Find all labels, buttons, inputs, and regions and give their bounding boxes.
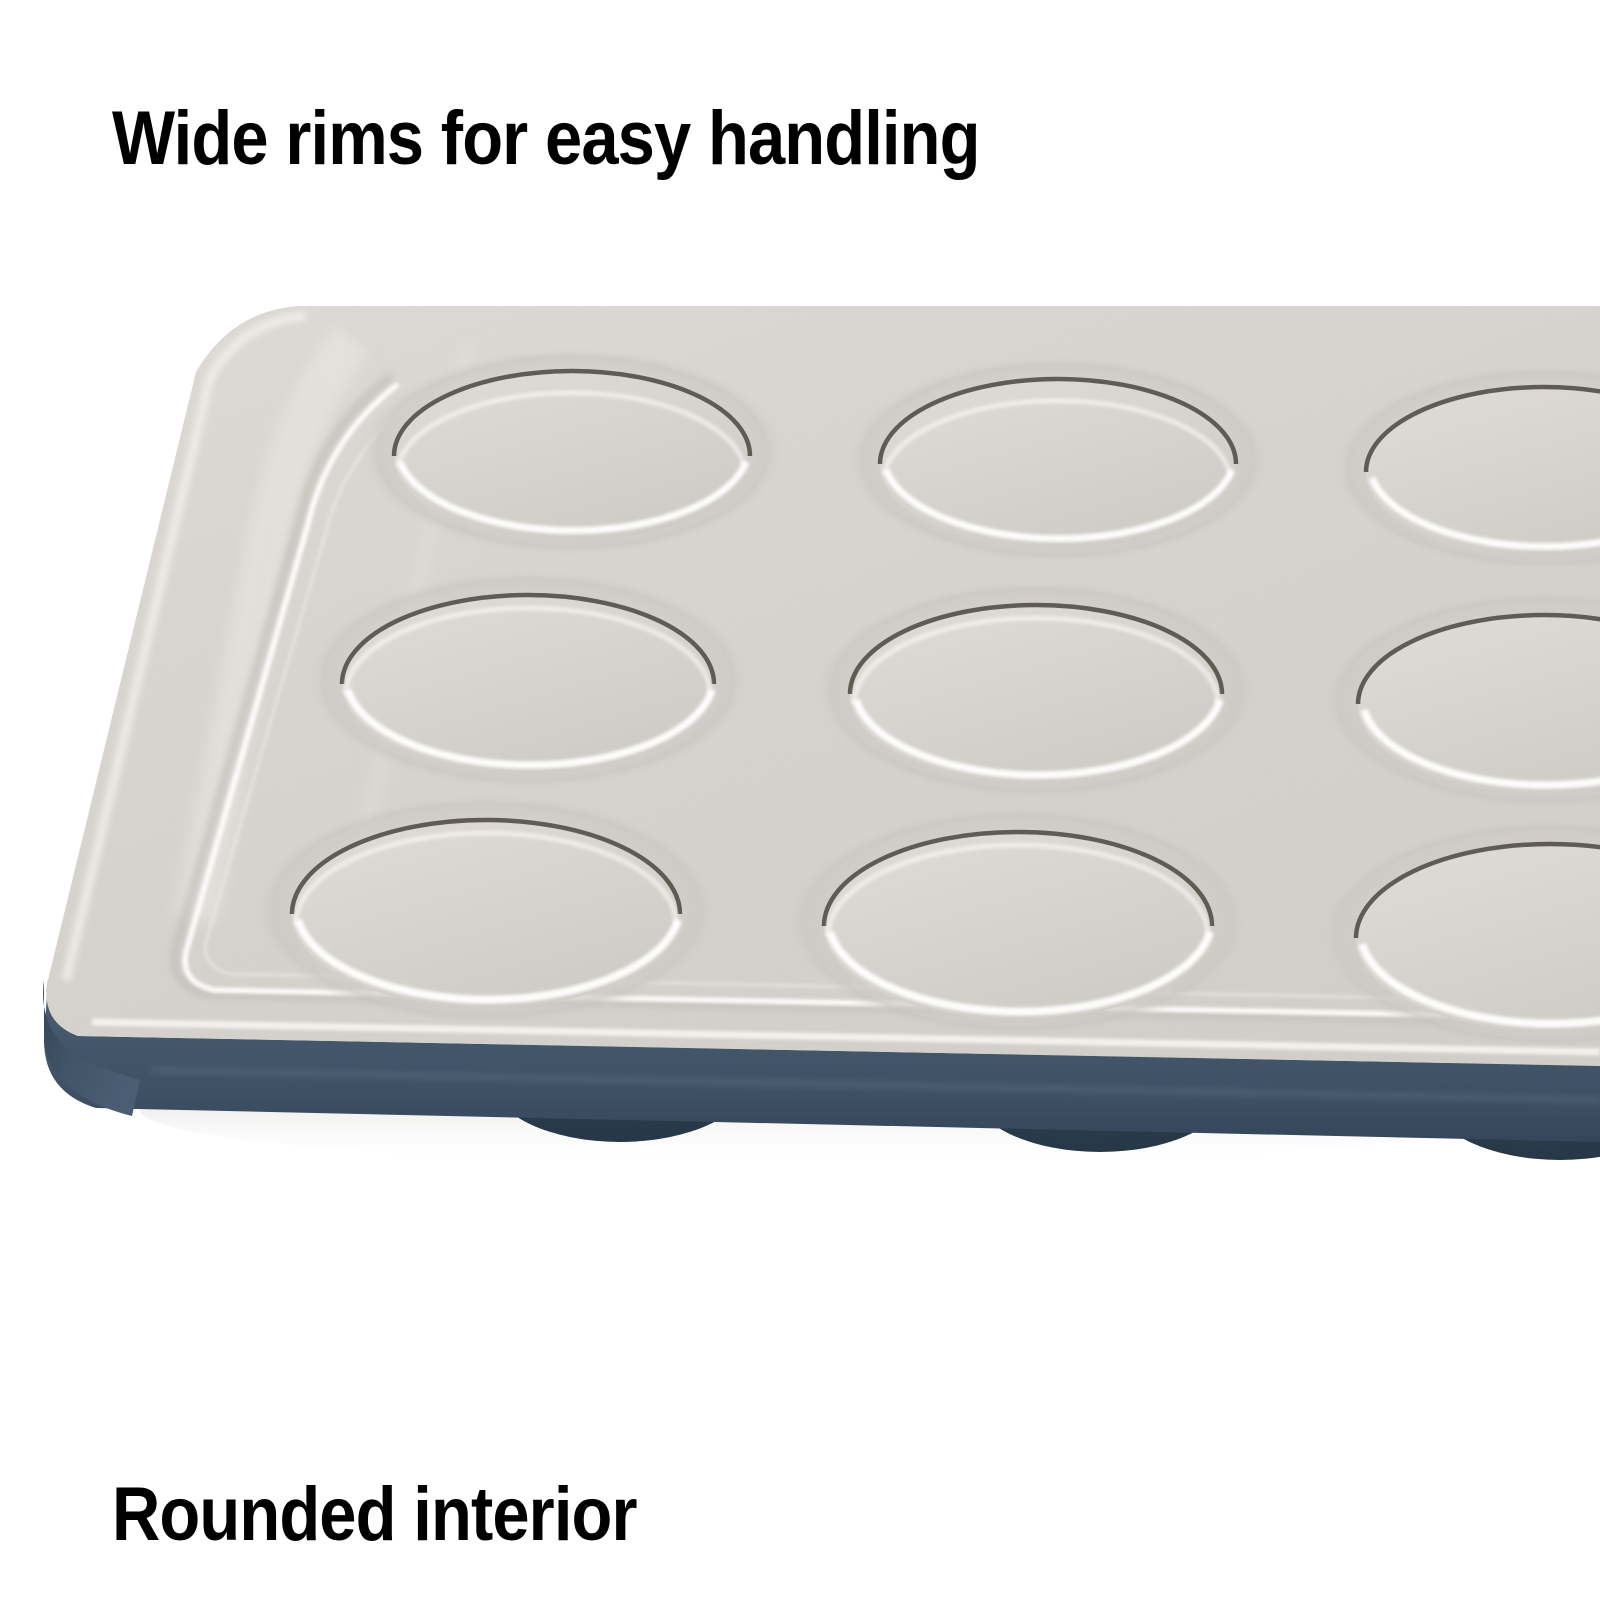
product-photo (0, 280, 1600, 1230)
muffin-cup (254, 794, 718, 1026)
product-feature-image: Wide rims for easy handling (0, 0, 1600, 1600)
muffin-cup (786, 806, 1250, 1038)
pan-top-surface (47, 306, 1600, 1066)
muffin-cup (306, 570, 750, 790)
muffin-cup (814, 580, 1258, 800)
footer-caption-line-1: Rounded interior (112, 1476, 883, 1554)
footer-caption: Rounded interior corners for easy cleanu… (112, 1320, 883, 1600)
muffin-cup (360, 348, 784, 556)
headline-text: Wide rims for easy handling (112, 100, 980, 178)
muffin-cup (846, 356, 1270, 564)
